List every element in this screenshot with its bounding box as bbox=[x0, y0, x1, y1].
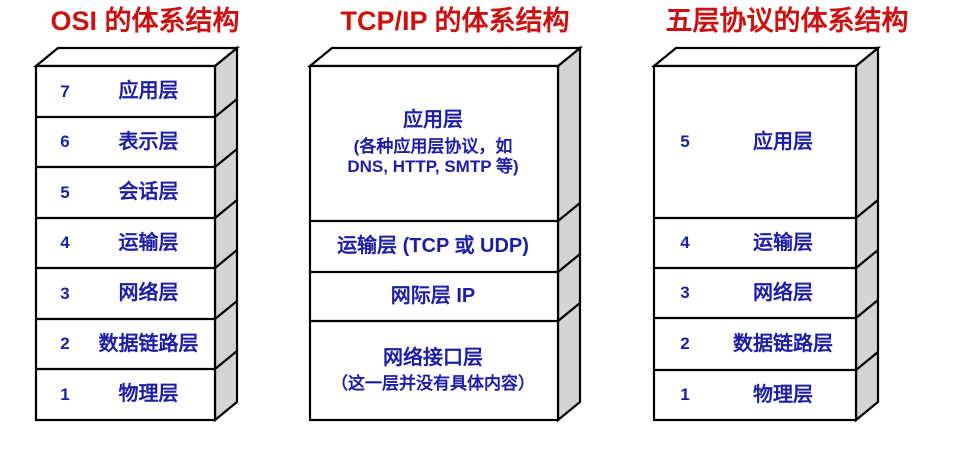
layer-name-text: 网络层 bbox=[753, 282, 813, 304]
layer-name: 应用层 bbox=[86, 66, 211, 117]
layer-name: 应用层(各种应用层协议，如DNS, HTTP, SMTP 等) bbox=[312, 66, 554, 221]
layer-name: 物理层 bbox=[714, 370, 852, 420]
layer-number: 4 bbox=[672, 218, 698, 268]
layer-name-text: 数据链路层 bbox=[99, 333, 199, 355]
layer-name-text: 网际层 IP bbox=[391, 285, 475, 307]
layer-number: 7 bbox=[52, 66, 78, 117]
five-layer-stack: 5应用层4运输层3网络层2数据链路层1物理层 bbox=[620, 0, 954, 449]
layer-name: 网络接口层（这一层并没有具体内容） bbox=[312, 321, 554, 420]
layer-detail-line-2: DNS, HTTP, SMTP 等) bbox=[347, 157, 518, 177]
layer-detail-line-1: (各种应用层协议，如 bbox=[347, 137, 518, 157]
layer-name: 运输层 bbox=[86, 218, 211, 268]
layer-number: 3 bbox=[672, 268, 698, 318]
layer-name-text: 物理层 bbox=[753, 384, 813, 406]
layer-number: 1 bbox=[52, 369, 78, 420]
layer-number: 5 bbox=[52, 167, 78, 218]
layer-number: 4 bbox=[52, 218, 78, 268]
layer-name-text: 应用层 bbox=[403, 109, 463, 131]
layer-name-text: 应用层 bbox=[119, 80, 179, 102]
diagram-canvas: OSI 的体系结构 7应用层6表示层5会话层4运输层3网络层2数据链路层1物理层… bbox=[0, 0, 954, 449]
layer-name-text: 会话层 bbox=[119, 181, 179, 203]
layer-name: 数据链路层 bbox=[86, 319, 211, 369]
layer-name-text: 数据链路层 bbox=[733, 333, 833, 355]
layer-name: 物理层 bbox=[86, 369, 211, 420]
layer-number: 5 bbox=[672, 66, 698, 218]
layer-name: 运输层 (TCP 或 UDP) bbox=[312, 221, 554, 272]
layer-name-text: 运输层 bbox=[119, 232, 179, 254]
layer-name-text: 运输层 (TCP 或 UDP) bbox=[337, 235, 529, 257]
layer-number: 6 bbox=[52, 117, 78, 167]
column-tcpip: TCP/IP 的体系结构 应用层(各种应用层协议，如DNS, HTTP, SMT… bbox=[290, 0, 620, 449]
layer-name: 会话层 bbox=[86, 167, 211, 218]
layer-name-text: 网络接口层 bbox=[383, 347, 483, 369]
column-five-layer: 五层协议的体系结构 5应用层4运输层3网络层2数据链路层1物理层 bbox=[620, 0, 954, 449]
osi-stack: 7应用层6表示层5会话层4运输层3网络层2数据链路层1物理层 bbox=[0, 0, 290, 449]
layer-name: 数据链路层 bbox=[714, 318, 852, 370]
layer-name-text: 运输层 bbox=[753, 232, 813, 254]
layer-name: 应用层 bbox=[714, 66, 852, 218]
layer-number: 2 bbox=[52, 319, 78, 369]
layer-name-text: 网络层 bbox=[119, 282, 179, 304]
layer-name-text: 物理层 bbox=[119, 383, 179, 405]
column-osi: OSI 的体系结构 7应用层6表示层5会话层4运输层3网络层2数据链路层1物理层 bbox=[0, 0, 290, 449]
layer-number: 3 bbox=[52, 268, 78, 319]
layer-name: 运输层 bbox=[714, 218, 852, 268]
layer-name-text: 应用层 bbox=[753, 131, 813, 153]
layer-name: 网际层 IP bbox=[312, 272, 554, 321]
tcpip-stack: 应用层(各种应用层协议，如DNS, HTTP, SMTP 等)运输层 (TCP … bbox=[290, 0, 620, 449]
layer-detail: (各种应用层协议，如DNS, HTTP, SMTP 等) bbox=[347, 137, 518, 178]
layer-number: 1 bbox=[672, 370, 698, 420]
layer-name: 网络层 bbox=[86, 268, 211, 319]
layer-detail: （这一层并没有具体内容） bbox=[331, 374, 535, 394]
layer-name-text: 表示层 bbox=[119, 131, 179, 153]
layer-number: 2 bbox=[672, 318, 698, 370]
layer-name: 表示层 bbox=[86, 117, 211, 167]
layer-name: 网络层 bbox=[714, 268, 852, 318]
layer-detail-line-1: （这一层并没有具体内容） bbox=[331, 374, 535, 394]
